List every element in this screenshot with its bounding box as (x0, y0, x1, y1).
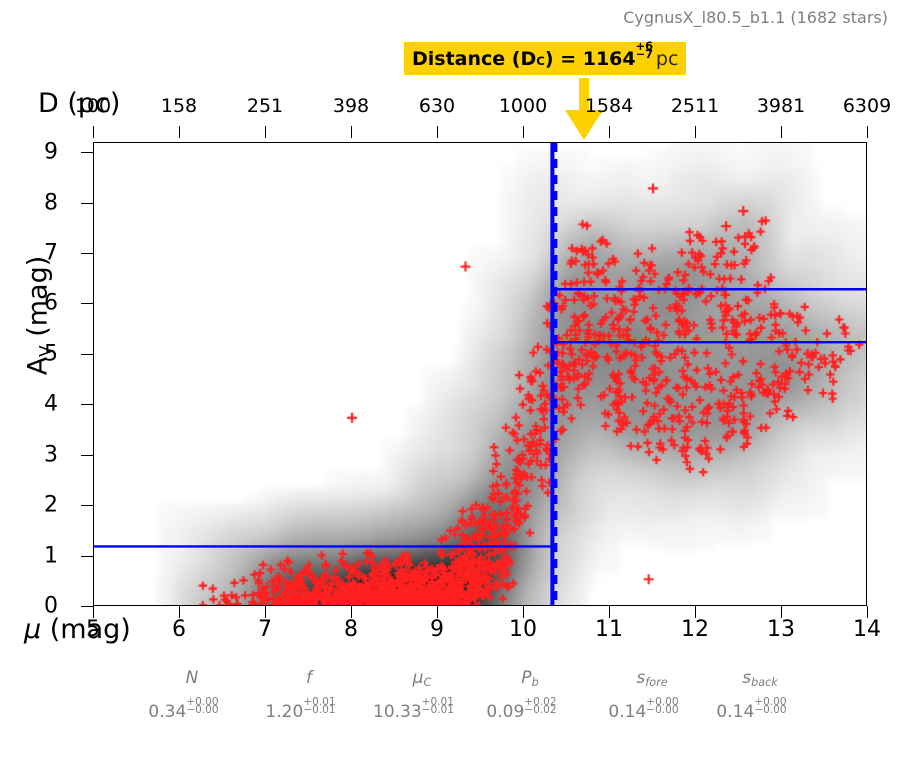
tick-top (867, 126, 868, 138)
distance-subscript: C (536, 55, 545, 67)
field-title: CygnusX_l80.5_b1.1 (1682 stars) (623, 8, 888, 27)
tick-label-bottom: 11 (595, 617, 623, 642)
parameter-column: μC10.33+0.01−0.01 (413, 668, 432, 688)
tick-label-bottom: 8 (344, 617, 358, 642)
parameter-column: f1.20+0.01−0.01 (306, 668, 312, 688)
parameter-value: 10.33+0.01−0.01 (373, 700, 471, 722)
distance-prefix: Distance (D (412, 48, 536, 70)
parameter-name: sfore (636, 668, 667, 688)
tick-left (81, 303, 93, 304)
distance-error: +6−7 (636, 46, 650, 65)
tick-top (695, 126, 696, 138)
tick-label-top: 1000 (499, 95, 547, 117)
parameter-column: sfore0.14+0.00−0.00 (636, 668, 667, 688)
tick-left (81, 203, 93, 204)
tick-label-top: 2511 (671, 95, 719, 117)
tick-top (781, 126, 782, 138)
tick-top (93, 126, 94, 138)
tick-label-bottom: 13 (767, 617, 795, 642)
bottom-axis-mu-symbol: μ (24, 614, 41, 645)
parameter-name: f (306, 668, 312, 688)
tick-top (437, 126, 438, 138)
tick-label-top: 398 (333, 95, 369, 117)
tick-left (81, 556, 93, 557)
bottom-axis-title: μ (mag) (24, 614, 131, 645)
tick-left (81, 354, 93, 355)
tick-label-left: 9 (44, 140, 58, 165)
distance-mid: ) = 1164 (545, 48, 636, 70)
tick-left (81, 505, 93, 506)
tick-label-left: 7 (44, 240, 58, 265)
parameter-value: 0.09+0.02−0.02 (486, 700, 573, 722)
tick-label-top: 158 (161, 95, 197, 117)
tick-label-left: 8 (44, 190, 58, 215)
parameter-column: N0.34+0.00−0.00 (186, 668, 199, 688)
figure-root: CygnusX_l80.5_b1.1 (1682 stars) Distance… (0, 0, 902, 759)
parameter-column: Pb0.09+0.02−0.02 (521, 668, 538, 688)
tick-top (609, 126, 610, 138)
tick-label-top: 251 (247, 95, 283, 117)
tick-label-bottom: 10 (509, 617, 537, 642)
distance-unit: pc (656, 48, 679, 70)
tick-left (81, 404, 93, 405)
tick-label-left: 1 (44, 543, 58, 568)
tick-left (81, 455, 93, 456)
tick-label-bottom: 14 (853, 617, 881, 642)
tick-label-top: 3981 (757, 95, 805, 117)
tick-top (523, 126, 524, 138)
tick-left (81, 253, 93, 254)
tick-label-left: 2 (44, 493, 58, 518)
tick-top (179, 126, 180, 138)
tick-label-left: 3 (44, 442, 58, 467)
parameter-value: 0.14+0.00−0.00 (608, 700, 695, 722)
tick-label-bottom: 6 (172, 617, 186, 642)
tick-label-left: 0 (44, 594, 58, 619)
tick-label-top: 1584 (585, 95, 633, 117)
tick-label-left: 6 (44, 291, 58, 316)
parameter-value: 0.14+0.00−0.00 (716, 700, 803, 722)
tick-label-bottom: 9 (430, 617, 444, 642)
tick-label-left: 5 (44, 341, 58, 366)
tick-label-bottom: 7 (258, 617, 272, 642)
tick-left (81, 152, 93, 153)
parameter-name: μC (413, 668, 432, 688)
parameter-name: Pb (521, 668, 538, 688)
parameter-value: 0.34+0.00−0.00 (148, 700, 235, 722)
parameter-name: sback (742, 668, 778, 688)
distance-error-dn: −7 (636, 49, 653, 61)
tick-top (265, 126, 266, 138)
parameter-table: N0.34+0.00−0.00f1.20+0.01−0.01μC10.33+0.… (0, 668, 902, 759)
tick-top (351, 126, 352, 138)
tick-label-bottom: 5 (86, 617, 100, 642)
tick-label-top: 630 (419, 95, 455, 117)
tick-label-top: 100 (75, 95, 111, 117)
plot-area (93, 142, 867, 606)
tick-label-bottom: 12 (681, 617, 709, 642)
parameter-column: sback0.14+0.00−0.00 (742, 668, 778, 688)
parameter-name: N (186, 668, 199, 688)
parameter-value: 1.20+0.01−0.01 (265, 700, 352, 722)
tick-label-top: 6309 (843, 95, 891, 117)
distance-callout: Distance (DC) = 1164+6−7 pc (404, 42, 686, 75)
tick-label-left: 4 (44, 392, 58, 417)
fit-lines (94, 143, 867, 606)
tick-left (81, 606, 93, 607)
